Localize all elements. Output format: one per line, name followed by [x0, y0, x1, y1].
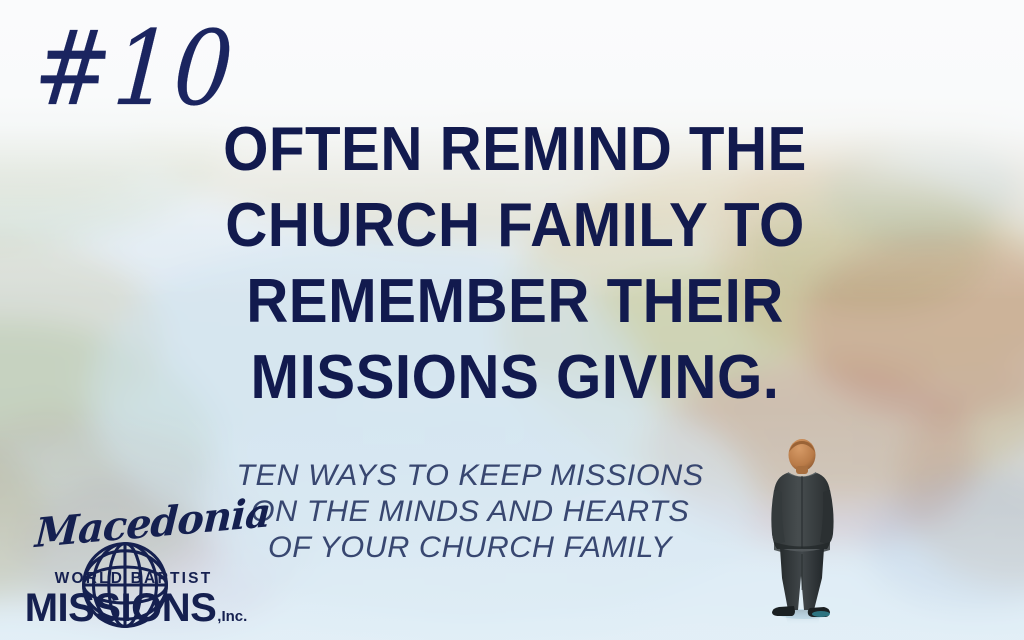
logo-script-name: Macedonia	[34, 493, 271, 554]
tip-number: #10	[31, 18, 238, 121]
headline-line-3: REMEMBER THEIR	[172, 264, 858, 340]
headline-line-1: OFTEN REMIND THE	[172, 112, 858, 188]
poster-canvas: #10 OFTEN REMIND THE CHURCH FAMILY TO RE…	[0, 0, 1024, 640]
headline-line-2: CHURCH FAMILY TO	[172, 188, 858, 264]
page-title: OFTEN REMIND THE CHURCH FAMILY TO REMEMB…	[172, 112, 858, 416]
logo-wordmark-row: MISSIONS,Inc.	[22, 586, 250, 631]
logo-suffix: ,Inc.	[217, 608, 247, 625]
logo[interactable]: Macedonia WORLD BAPTIST MISSIONS,Inc.	[18, 512, 258, 632]
logo-wordmark: MISSIONS	[25, 586, 217, 630]
businessman-figurine-icon	[752, 438, 870, 624]
headline-line-4: MISSIONS GIVING.	[172, 340, 858, 416]
poster-content: #10 OFTEN REMIND THE CHURCH FAMILY TO RE…	[0, 0, 1024, 640]
subtitle-line-3: OF YOUR CHURCH FAMILY	[184, 530, 755, 566]
